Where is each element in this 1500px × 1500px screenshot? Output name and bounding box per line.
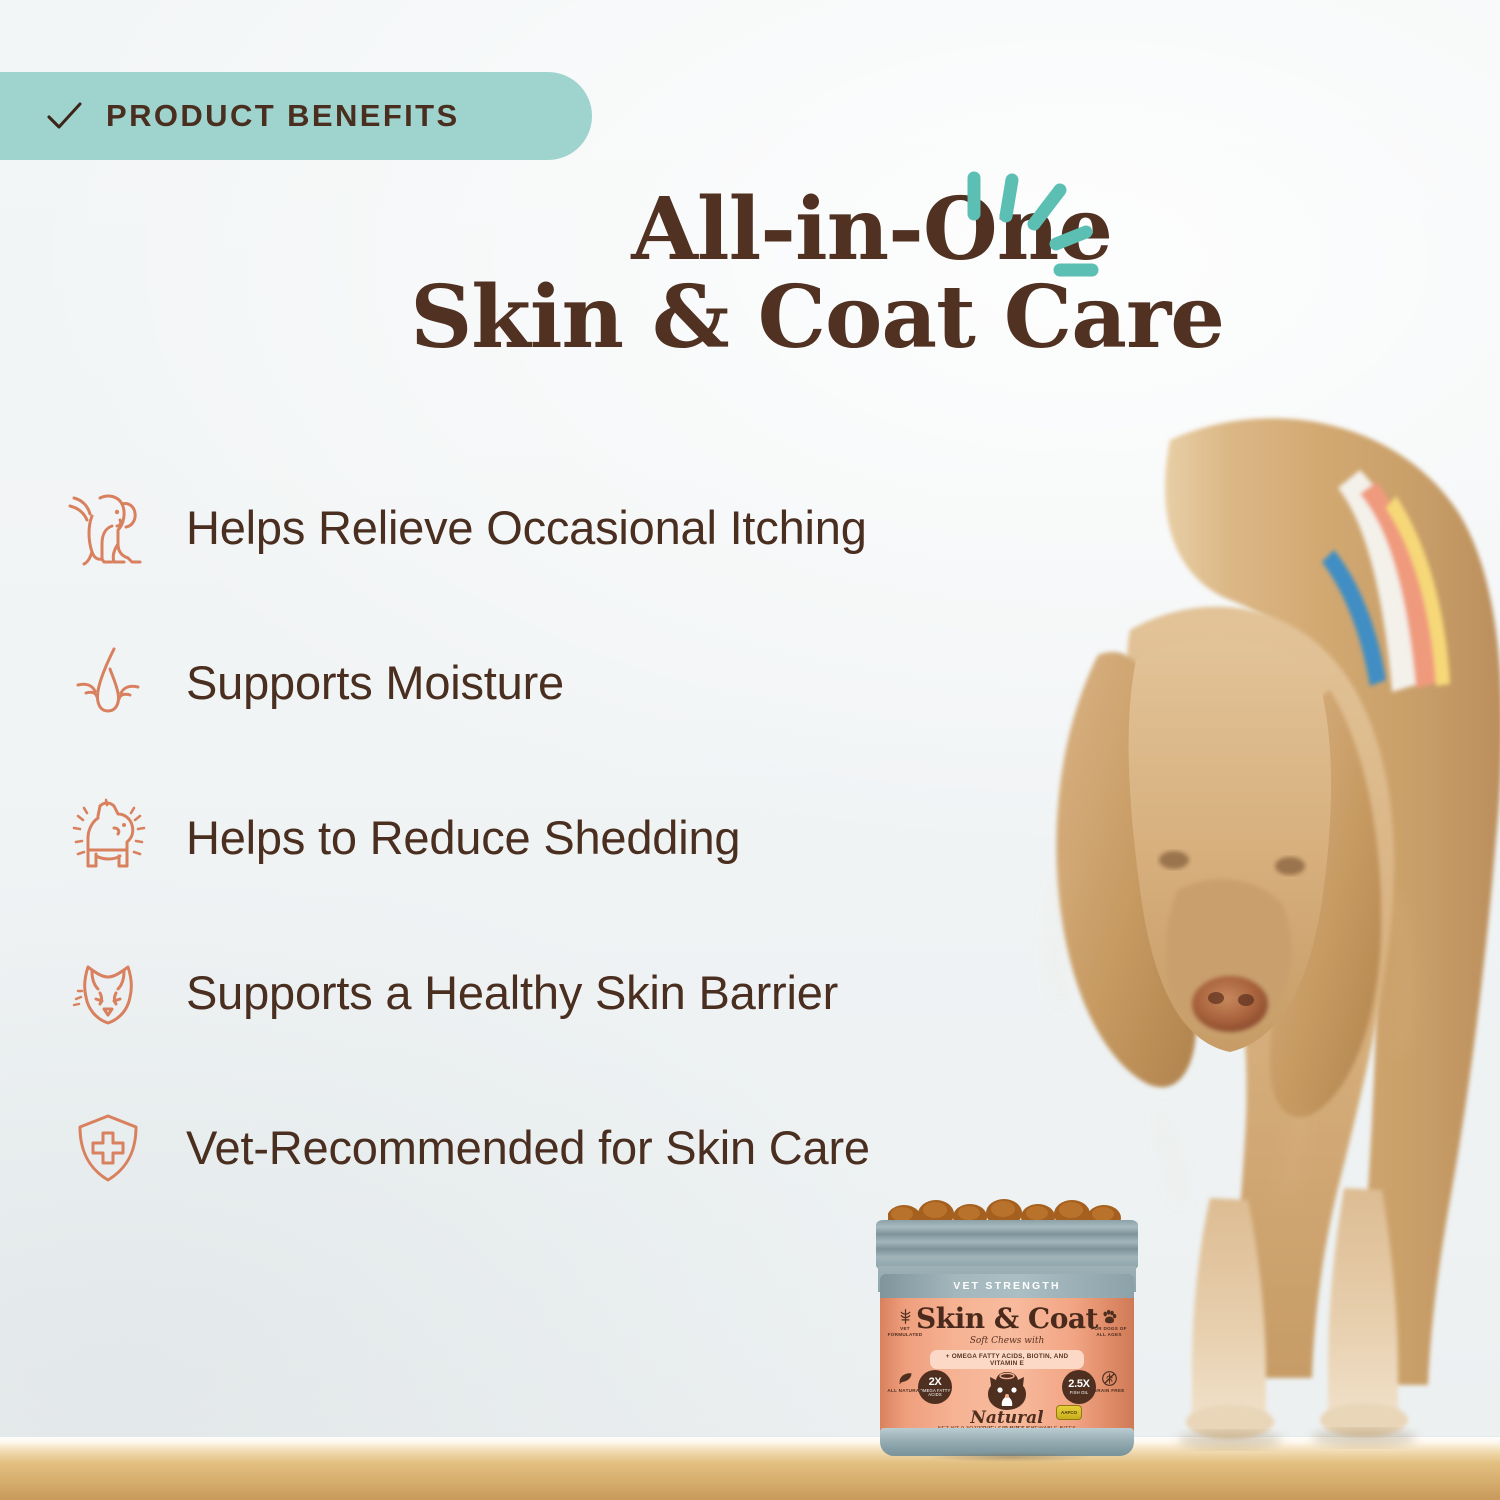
product-benefits-label: PRODUCT BENEFITS bbox=[106, 98, 460, 134]
vet-formulated-badge: VET FORMULATED bbox=[882, 1308, 928, 1338]
grain-free-label: GRAIN FREE bbox=[1086, 1388, 1132, 1394]
benefits-list: Helps Relieve Occasional Itching Support… bbox=[62, 450, 1072, 1225]
all-natural-badge: ALL NATURAL bbox=[882, 1370, 928, 1394]
sparkle-icon bbox=[950, 162, 1120, 302]
check-icon bbox=[44, 96, 84, 136]
vet-strength-text: VET STRENGTH bbox=[953, 1280, 1061, 1292]
jar-shadow bbox=[892, 1450, 1128, 1464]
benefit-item-shedding: Helps to Reduce Shedding bbox=[62, 760, 1072, 915]
all-ages-badge: FOR DOGS OF ALL AGES bbox=[1086, 1308, 1132, 1338]
all-ages-label: FOR DOGS OF ALL AGES bbox=[1086, 1326, 1132, 1338]
omega-seal-value: 2X bbox=[929, 1377, 942, 1388]
benefit-item-itching: Helps Relieve Occasional Itching bbox=[62, 450, 1072, 605]
grain-free-icon bbox=[1101, 1370, 1118, 1387]
jar-label: VET STRENGTH Skin & Coat Soft Chews with… bbox=[880, 1274, 1134, 1442]
benefit-label: Helps to Reduce Shedding bbox=[186, 810, 740, 865]
vet-strength-band: VET STRENGTH bbox=[880, 1274, 1134, 1298]
dog-face-icon bbox=[62, 947, 154, 1039]
hair-follicle-icon bbox=[62, 637, 154, 729]
benefit-item-moisture: Supports Moisture bbox=[62, 605, 1072, 760]
benefit-item-skin-barrier: Supports a Healthy Skin Barrier bbox=[62, 915, 1072, 1070]
benefit-label: Helps Relieve Occasional Itching bbox=[186, 500, 867, 555]
benefit-label: Vet-Recommended for Skin Care bbox=[186, 1120, 870, 1175]
benefit-label: Supports a Healthy Skin Barrier bbox=[186, 965, 838, 1020]
product-jar: VET STRENGTH Skin & Coat Soft Chews with… bbox=[862, 1192, 1152, 1460]
dog-shedding-icon bbox=[62, 792, 154, 884]
jar-lid bbox=[876, 1220, 1138, 1270]
paw-icon bbox=[1101, 1308, 1118, 1325]
benefit-label: Supports Moisture bbox=[186, 655, 564, 710]
product-benefits-banner: PRODUCT BENEFITS bbox=[0, 72, 592, 160]
all-natural-label: ALL NATURAL bbox=[882, 1388, 928, 1394]
ingredients-strip: + OMEGA FATTY ACIDS, BIOTIN, AND VITAMIN… bbox=[930, 1350, 1084, 1369]
brand-name: Natural bbox=[880, 1408, 1134, 1428]
aafco-seal: AAFCO bbox=[1056, 1405, 1082, 1420]
dog-scratching-icon bbox=[62, 482, 154, 574]
caduceus-icon bbox=[897, 1308, 914, 1325]
grain-free-badge: GRAIN FREE bbox=[1086, 1370, 1132, 1394]
leaf-icon bbox=[897, 1370, 914, 1387]
vet-formulated-label: VET FORMULATED bbox=[882, 1326, 928, 1338]
brand-dog-logo-icon bbox=[983, 1368, 1031, 1412]
shield-cross-icon bbox=[62, 1102, 154, 1194]
